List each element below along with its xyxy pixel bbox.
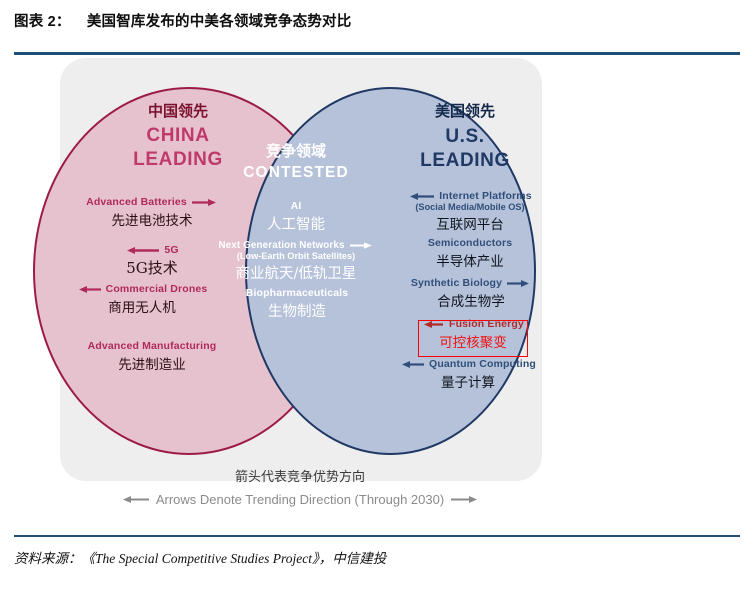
legend-zh-text: 箭头代表竞争优势方向 <box>0 466 600 485</box>
us-item-2-en: Semiconductors <box>428 237 512 249</box>
us-item-5-en: Quantum Computing <box>429 358 536 370</box>
arrow-left-icon <box>77 285 101 294</box>
contested-item-3-en: Biopharmaceuticals <box>246 287 349 299</box>
us-item-1-sub: (Social Media/Mobile OS) <box>390 202 550 212</box>
us-heading-en-line2: LEADING <box>400 149 530 173</box>
us-item-5-zh: 量子计算 <box>388 371 548 391</box>
china-item-advanced-batteries: Advanced Batteries 先进电池技术 <box>52 196 252 229</box>
us-item-1-en-row: Internet Platforms <box>390 190 550 202</box>
contested-item-2-en-row: Next Generation Networks <box>222 240 370 251</box>
contested-item-2-sub: (Low-Earth Orbit Satellites) <box>222 251 370 261</box>
china-item-1-zh: 先进电池技术 <box>52 209 252 229</box>
us-item-5-en-row: Quantum Computing <box>388 358 548 370</box>
legend-en-row: Arrows Denote Trending Direction (Throug… <box>0 492 600 507</box>
us-item-2-zh: 半导体产业 <box>400 250 540 270</box>
arrow-right-icon <box>350 241 374 250</box>
china-item-advanced-manufacturing: Advanced Manufacturing 先进制造业 <box>52 340 252 373</box>
contested-item-ai: AI 人工智能 <box>236 200 356 234</box>
arrow-left-icon <box>121 495 149 504</box>
arrow-left-icon <box>422 320 444 329</box>
contested-item-3-zh: 生物制造 <box>232 300 362 321</box>
us-item-internet-platforms: Internet Platforms (Social Media/Mobile … <box>390 190 550 233</box>
arrow-left-icon <box>400 360 424 369</box>
china-item-3-en: Commercial Drones <box>106 283 208 295</box>
us-item-semiconductors: Semiconductors 半导体产业 <box>400 237 540 270</box>
us-item-4-en: Fusion Energy <box>449 318 524 330</box>
arrow-right-icon <box>451 495 479 504</box>
contested-item-biopharmaceuticals: Biopharmaceuticals 生物制造 <box>232 287 362 321</box>
contested-item-2-zh: 商业航天/低轨卫星 <box>222 262 370 283</box>
china-item-4-en: Advanced Manufacturing <box>88 340 217 352</box>
contested-heading-zh: 竞争领域 <box>234 140 358 161</box>
china-item-2-en: 5G <box>164 244 178 256</box>
us-heading-zh: 美国领先 <box>400 100 530 121</box>
arrow-left-icon <box>125 246 159 255</box>
legend-en-text: Arrows Denote Trending Direction (Throug… <box>156 492 444 507</box>
contested-item-2-en: Next Generation Networks <box>218 240 344 251</box>
contested-item-next-generation-networks: Next Generation Networks (Low-Earth Orbi… <box>222 240 370 283</box>
us-item-3-zh: 合成生物学 <box>396 290 546 310</box>
us-item-4-en-row: Fusion Energy <box>398 318 548 330</box>
contested-item-1-en-row: AI <box>236 200 356 212</box>
us-item-1-en: Internet Platforms <box>439 190 532 202</box>
footer-divider <box>14 535 740 537</box>
us-item-1-zh: 互联网平台 <box>390 213 550 233</box>
china-item-4-zh: 先进制造业 <box>52 353 252 373</box>
source-note: 资料来源：《The Special Competitive Studies Pr… <box>14 547 386 567</box>
us-heading-en-line1: U.S. <box>400 125 530 149</box>
us-item-synthetic-biology: Synthetic Biology 合成生物学 <box>396 277 546 310</box>
us-item-fusion-energy: Fusion Energy 可控核聚变 <box>398 318 548 351</box>
us-item-3-en: Synthetic Biology <box>411 277 502 289</box>
us-item-quantum-computing: Quantum Computing 量子计算 <box>388 358 548 391</box>
us-item-3-en-row: Synthetic Biology <box>396 277 546 289</box>
arrow-right-icon <box>507 279 531 288</box>
contested-item-1-zh: 人工智能 <box>236 213 356 234</box>
us-item-2-en-row: Semiconductors <box>400 237 540 249</box>
china-item-1-en-row: Advanced Batteries <box>52 196 252 208</box>
china-item-commercial-drones: Commercial Drones 商用无人机 <box>42 283 242 316</box>
venn-diagram: 中国领先 CHINA LEADING Advanced Batteries 先进… <box>0 0 754 595</box>
us-item-4-zh: 可控核聚变 <box>398 331 548 351</box>
contested-item-3-en-row: Biopharmaceuticals <box>232 287 362 299</box>
china-item-1-en: Advanced Batteries <box>86 196 187 208</box>
china-item-3-en-row: Commercial Drones <box>42 283 242 295</box>
arrow-right-icon <box>192 198 218 207</box>
china-heading-zh: 中国领先 <box>88 100 268 121</box>
arrow-left-icon <box>408 192 434 201</box>
china-item-4-en-row: Advanced Manufacturing <box>52 340 252 352</box>
contested-heading-en: CONTESTED <box>234 164 358 182</box>
china-item-3-zh: 商用无人机 <box>42 296 242 316</box>
contested-item-1-en: AI <box>291 200 302 212</box>
